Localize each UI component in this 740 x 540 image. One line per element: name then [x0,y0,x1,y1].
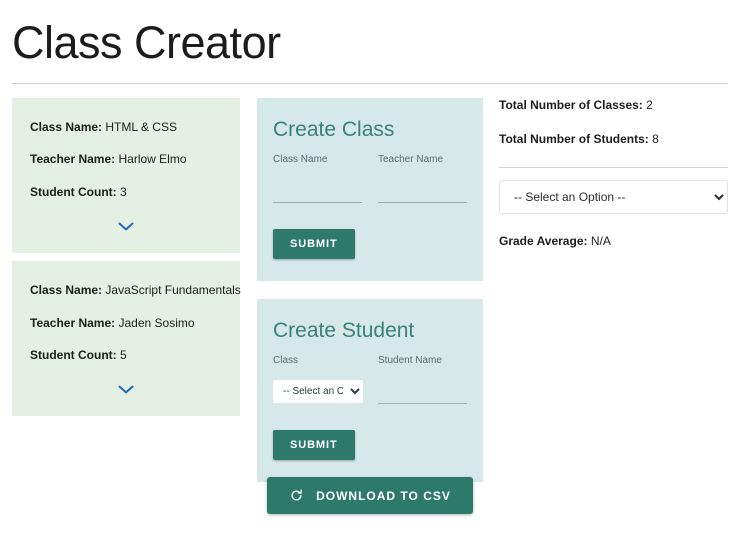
download-row: DOWNLOAD TO CSV [0,477,740,514]
download-csv-button[interactable]: DOWNLOAD TO CSV [267,477,473,514]
student-class-field-label: Class [273,356,362,366]
student-count-line: Student Count: 3 [30,185,222,199]
page-title: Class Creator [12,0,728,65]
teacher-name-line: Teacher Name: Harlow Elmo [30,152,222,166]
student-name-input[interactable] [378,388,467,404]
class-name-field-group: Class Name [273,155,362,203]
teacher-name-label: Teacher Name: [30,316,115,330]
stats-divider [499,167,728,168]
create-class-submit-button[interactable]: SUBMIT [273,229,355,259]
class-name-label: Class Name: [30,283,102,297]
expand-card-button[interactable] [30,380,222,402]
title-divider [12,83,728,84]
total-students-label: Total Number of Students: [499,132,649,146]
class-name-label: Class Name: [30,120,102,134]
create-student-panel: Create Student Class -- Select an Option… [257,299,483,482]
teacher-name-value: Harlow Elmo [119,152,187,166]
total-classes-value: 2 [646,98,653,112]
create-student-title: Create Student [273,319,467,342]
class-name-value: HTML & CSS [105,120,177,134]
create-student-submit-button[interactable]: SUBMIT [273,430,355,460]
grade-average-label: Grade Average: [499,234,587,248]
total-classes-line: Total Number of Classes: 2 [499,98,728,112]
student-count-value: 5 [120,348,127,362]
expand-card-button[interactable] [30,217,222,239]
create-student-fields: Class -- Select an Option -- Student Nam… [273,356,467,404]
teacher-name-field-label: Teacher Name [378,155,467,165]
total-classes-label: Total Number of Classes: [499,98,643,112]
student-name-field-label: Student Name [378,356,467,366]
teacher-name-input[interactable] [378,187,467,203]
class-name-value: JavaScript Fundamentals [105,283,240,297]
grade-average-value: N/A [591,234,611,248]
create-class-title: Create Class [273,118,467,141]
refresh-icon [289,488,304,503]
teacher-name-field-group: Teacher Name [378,155,467,203]
grade-class-select[interactable]: -- Select an Option -- [499,180,728,214]
teacher-name-value: Jaden Sosimo [119,316,195,330]
chevron-down-icon [118,385,134,395]
class-name-input[interactable] [273,187,362,203]
stats-column: Total Number of Classes: 2 Total Number … [499,98,728,268]
main-columns: Class Name: HTML & CSS Teacher Name: Har… [12,98,728,500]
forms-column: Create Class Class Name Teacher Name SUB… [257,98,483,500]
student-count-line: Student Count: 5 [30,348,222,362]
class-name-line: Class Name: HTML & CSS [30,120,222,134]
student-class-select[interactable]: -- Select an Option -- [273,380,363,403]
class-name-field-label: Class Name [273,155,362,165]
teacher-name-line: Teacher Name: Jaden Sosimo [30,316,222,330]
total-students-line: Total Number of Students: 8 [499,132,728,146]
student-class-field-group: Class -- Select an Option -- [273,356,362,404]
teacher-name-label: Teacher Name: [30,152,115,166]
student-name-field-group: Student Name [378,356,467,404]
grade-average-line: Grade Average: N/A [499,234,728,248]
class-name-line: Class Name: JavaScript Fundamentals [30,283,222,297]
app-root: Class Creator Class Name: HTML & CSS Tea… [0,0,740,540]
create-class-panel: Create Class Class Name Teacher Name SUB… [257,98,483,281]
download-csv-label: DOWNLOAD TO CSV [316,489,451,503]
student-count-label: Student Count: [30,185,117,199]
class-card: Class Name: JavaScript Fundamentals Teac… [12,261,240,416]
chevron-down-icon [118,222,134,232]
create-class-fields: Class Name Teacher Name [273,155,467,203]
student-count-value: 3 [120,185,127,199]
student-count-label: Student Count: [30,348,117,362]
total-students-value: 8 [652,132,659,146]
class-card: Class Name: HTML & CSS Teacher Name: Har… [12,98,240,253]
class-list: Class Name: HTML & CSS Teacher Name: Har… [12,98,240,424]
